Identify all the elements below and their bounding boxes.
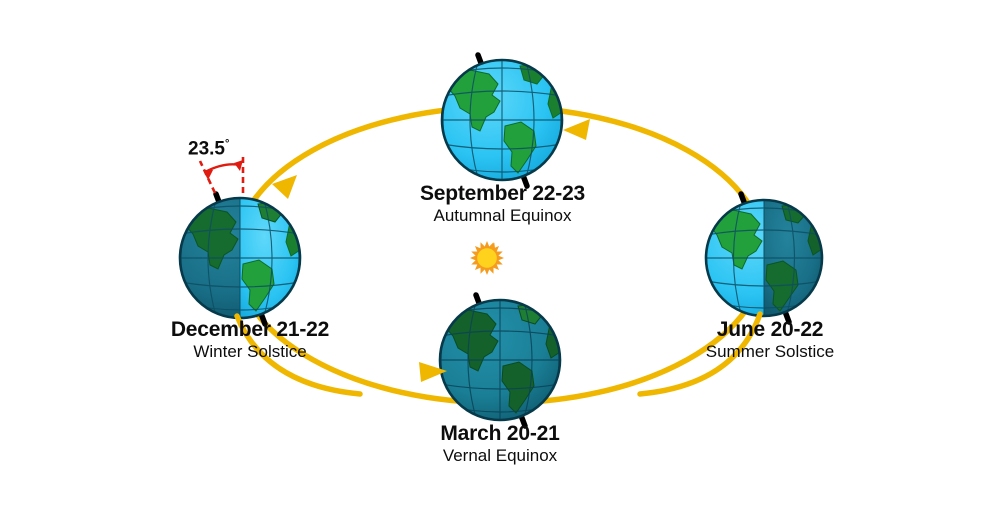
sun-icon	[470, 241, 504, 275]
label-march-date: March 20-21	[355, 422, 645, 446]
label-june-date: June 20-22	[630, 318, 910, 342]
tilt-annotation-group	[200, 155, 243, 193]
globe-september	[442, 55, 562, 186]
label-december-event: Winter Solstice	[100, 342, 400, 362]
tilt-angle-label: 23.5°	[188, 138, 278, 160]
label-june-event: Summer Solstice	[630, 342, 910, 362]
label-september-event: Autumnal Equinox	[330, 206, 675, 226]
seasons-diagram-canvas: September 22-23 Autumnal Equinox June 20…	[0, 0, 1000, 520]
label-september-date: September 22-23	[330, 182, 675, 206]
tilt-angle-value: 23.5	[188, 138, 225, 159]
label-september: September 22-23 Autumnal Equinox	[330, 182, 675, 226]
tilt-arrowhead-left	[203, 170, 213, 180]
label-june: June 20-22 Summer Solstice	[630, 318, 910, 362]
label-december-date: December 21-22	[100, 318, 400, 342]
globe-june	[706, 194, 826, 322]
globe-december	[180, 194, 304, 324]
label-december: December 21-22 Winter Solstice	[100, 318, 400, 362]
globe-march	[440, 295, 560, 426]
orbit-arrow-toward-september	[563, 119, 590, 140]
label-march: March 20-21 Vernal Equinox	[355, 422, 645, 466]
label-march-event: Vernal Equinox	[355, 446, 645, 466]
degree-symbol-icon: °	[225, 138, 229, 150]
sun-core	[477, 248, 498, 269]
